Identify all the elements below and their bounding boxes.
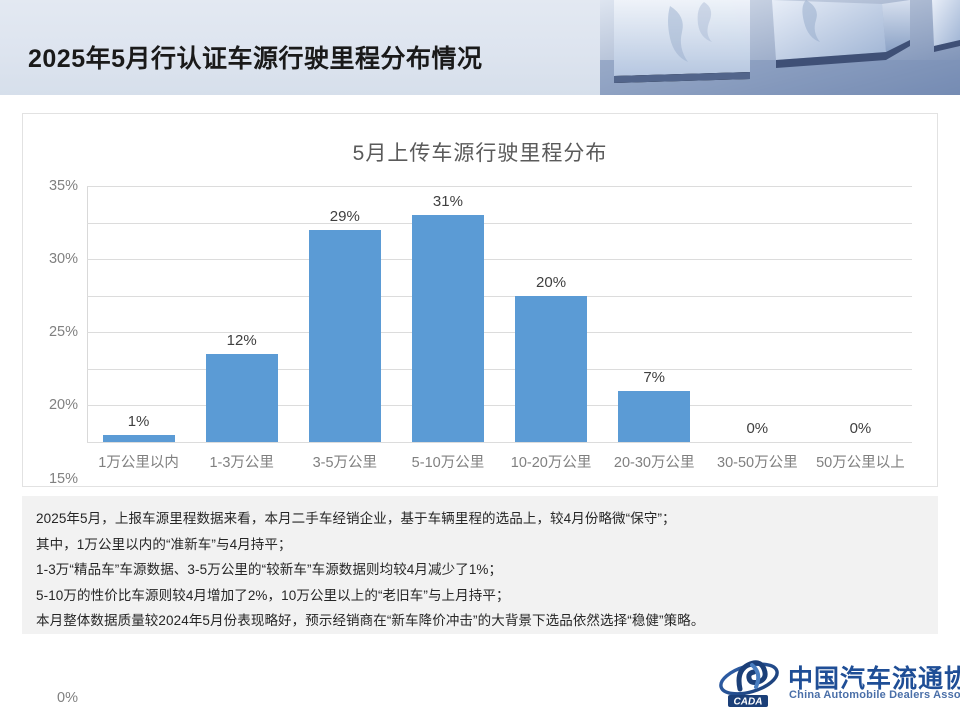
- bar-value-label: 7%: [603, 369, 706, 386]
- y-axis-tick-label: 35%: [49, 178, 78, 194]
- x-axis-tick-label: 20-30万公里: [603, 451, 706, 472]
- chart-title: 5月上传车源行驶里程分布: [23, 137, 937, 167]
- x-axis-tick-label: 50万公里以上: [809, 451, 912, 472]
- y-axis-tick-label: 0%: [57, 690, 78, 706]
- gridline: 0%: [87, 442, 912, 443]
- y-axis-tick-label: 30%: [49, 251, 78, 267]
- y-axis-tick-label: 15%: [49, 471, 78, 487]
- cada-swoosh-icon: CADA: [718, 657, 780, 709]
- note-line: 1-3万“精品车”车源数据、3-5万公里的“较新车”车源数据则均较4月减少了1%…: [36, 557, 924, 583]
- bar-series: 1%12%29%31%20%7%0%0%: [87, 186, 912, 442]
- y-axis-tick-label: 20%: [49, 397, 78, 413]
- bar-slot: 1%: [87, 186, 190, 442]
- note-line: 其中，1万公里以内的“准新车”与4月持平；: [36, 532, 924, 558]
- bar-value-label: 1%: [87, 413, 190, 430]
- chart-panel: 5月上传车源行驶里程分布 0%5%10%15%20%25%30%35% 1%12…: [22, 113, 938, 487]
- bar-value-label: 20%: [500, 274, 603, 291]
- x-axis-tick-label: 5-10万公里: [396, 451, 499, 472]
- x-axis-tick-label: 30-50万公里: [706, 451, 809, 472]
- x-axis-tick-label: 3-5万公里: [293, 451, 396, 472]
- bar-value-label: 0%: [809, 420, 912, 437]
- bar-slot: 0%: [809, 186, 912, 442]
- bar-slot: 7%: [603, 186, 706, 442]
- bar-value-label: 12%: [190, 332, 293, 349]
- bar-slot: 0%: [706, 186, 809, 442]
- bar-slot: 12%: [190, 186, 293, 442]
- x-axis-tick-label: 1万公里以内: [87, 451, 190, 472]
- bar-value-label: 0%: [706, 420, 809, 437]
- notes-block: 2025年5月，上报车源里程数据来看，本月二手车经销企业，基于车辆里程的选品上，…: [22, 496, 938, 634]
- logo-english-name: China Automobile Dealers Association: [789, 689, 960, 701]
- x-axis-tick-label: 10-20万公里: [500, 451, 603, 472]
- bar-slot: 20%: [500, 186, 603, 442]
- bar[interactable]: [515, 296, 587, 442]
- bar-value-label: 29%: [293, 208, 396, 225]
- bar[interactable]: [309, 230, 381, 442]
- header-band: 2025年5月行认证车源行驶里程分布情况: [0, 0, 960, 95]
- bar[interactable]: [412, 215, 484, 442]
- note-line: 本月整体数据质量较2024年5月份表现略好，预示经销商在“新车降价冲击”的大背景…: [36, 608, 924, 634]
- bar-slot: 29%: [293, 186, 396, 442]
- page-title: 2025年5月行认证车源行驶里程分布情况: [28, 47, 483, 72]
- bar[interactable]: [206, 354, 278, 442]
- blue-cubes-globe-image: [600, 0, 960, 95]
- bar[interactable]: [103, 435, 175, 442]
- bar[interactable]: [618, 391, 690, 442]
- note-line: 5-10万的性价比车源则较4月增加了2%，10万公里以上的“老旧车”与上月持平；: [36, 583, 924, 609]
- cada-logo: CADA 中国汽车流通协会 China Automobile Dealers A…: [718, 655, 948, 713]
- chart-plot-area: 0%5%10%15%20%25%30%35% 1%12%29%31%20%7%0…: [87, 186, 912, 442]
- cada-abbr-text: CADA: [734, 697, 763, 708]
- bar-value-label: 31%: [396, 193, 499, 210]
- slide: 2025年5月行认证车源行驶里程分布情况 5月上传车源行驶里程分布 0%5%10…: [0, 0, 960, 720]
- bar-slot: 31%: [396, 186, 499, 442]
- y-axis-tick-label: 25%: [49, 324, 78, 340]
- note-line: 2025年5月，上报车源里程数据来看，本月二手车经销企业，基于车辆里程的选品上，…: [36, 506, 924, 532]
- x-axis-labels: 1万公里以内1-3万公里3-5万公里5-10万公里10-20万公里20-30万公…: [87, 451, 912, 472]
- x-axis-tick-label: 1-3万公里: [190, 451, 293, 472]
